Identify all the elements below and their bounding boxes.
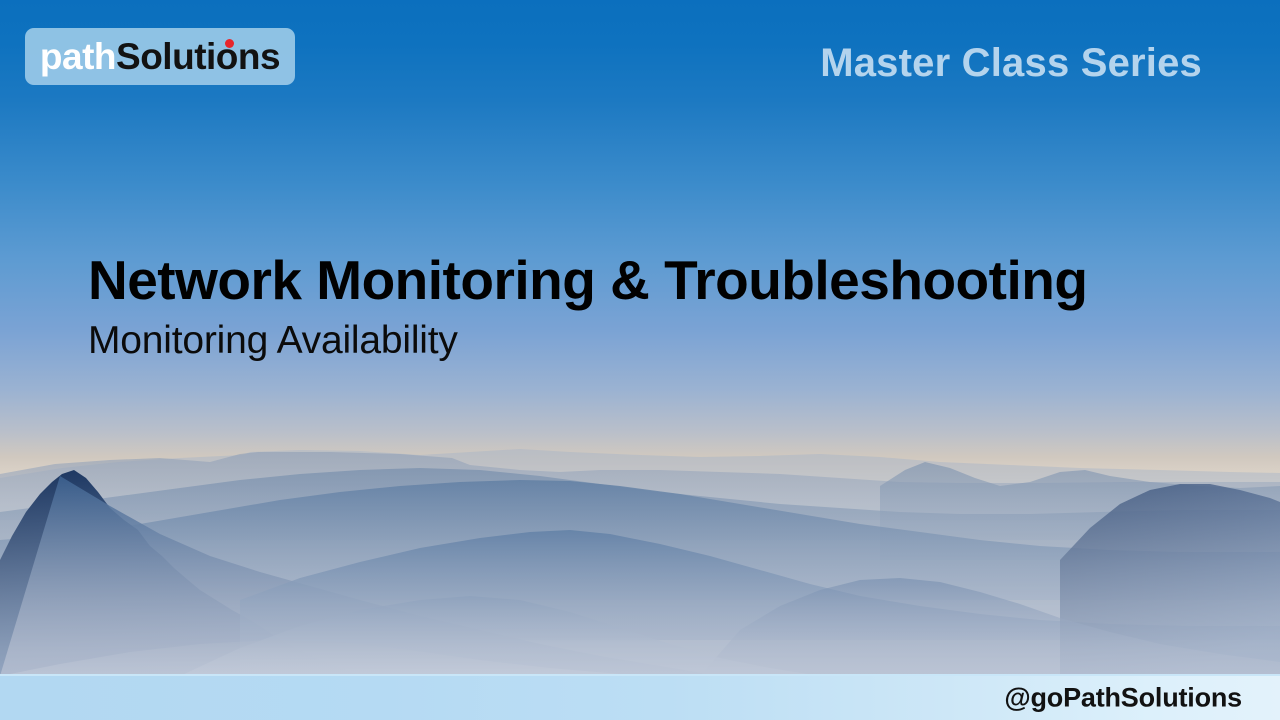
logo-text-path: path <box>40 36 116 77</box>
page-subtitle: Monitoring Availability <box>88 320 458 363</box>
red-dot-icon <box>225 39 234 48</box>
pathsolutions-logo[interactable]: pathSolutions <box>25 28 295 85</box>
footer-bar: @goPathSolutions <box>0 674 1280 720</box>
logo-text-solutions: Solutions <box>116 36 280 77</box>
logo-wordmark: pathSolutions <box>40 38 280 75</box>
title-slide: pathSolutions Master Class Series Networ… <box>0 0 1280 720</box>
page-title: Network Monitoring & Troubleshooting <box>88 252 1087 310</box>
series-label: Master Class Series <box>820 41 1202 86</box>
social-handle[interactable]: @goPathSolutions <box>1004 683 1242 714</box>
